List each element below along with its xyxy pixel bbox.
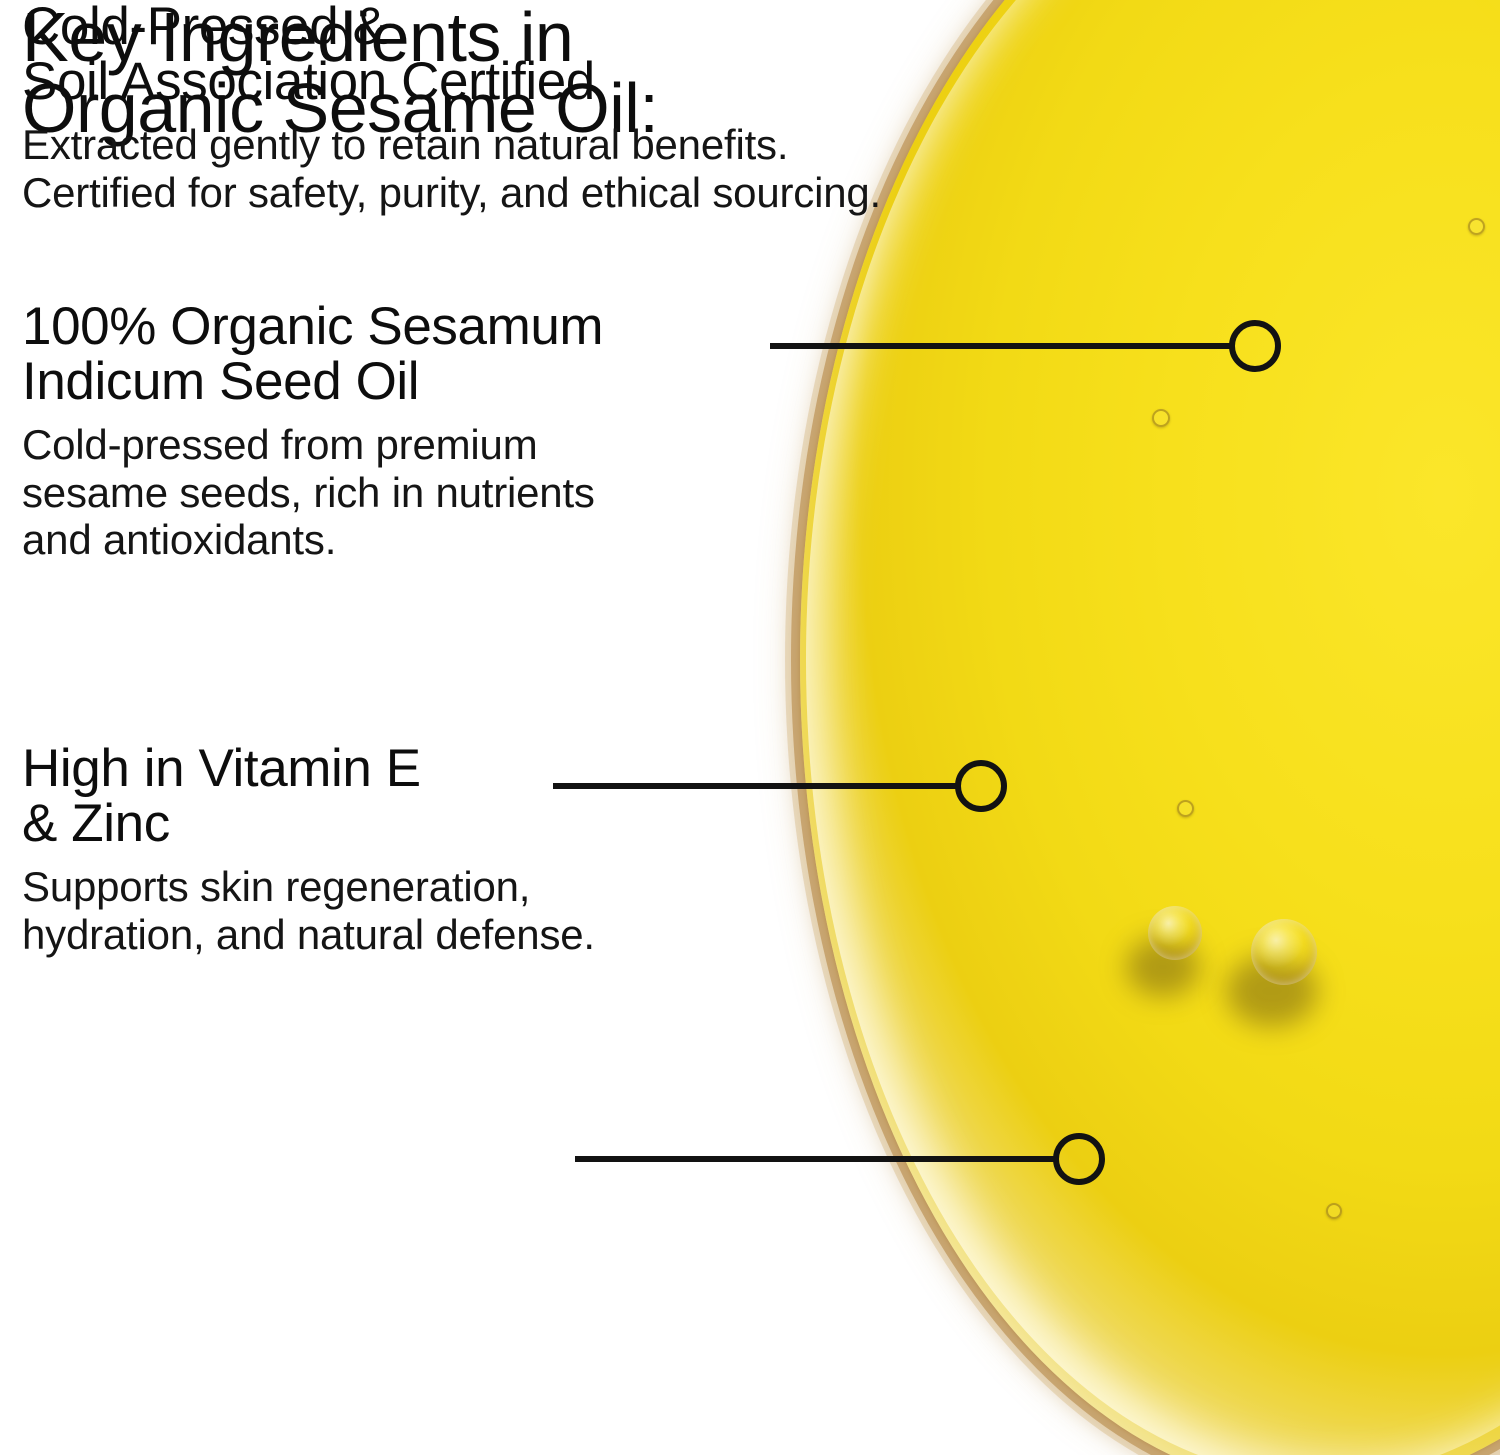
- callout-line-1: [770, 343, 1235, 349]
- ingredient-1-description: Cold-pressed from premium sesame seeds, …: [22, 421, 812, 563]
- ingredient-2-description: Supports skin regeneration, hydration, a…: [22, 863, 812, 958]
- ingredient-3-inner: Cold-Pressed & Soil Association Certifie…: [22, 0, 1142, 216]
- ingredient-3-description: Extracted gently to retain natural benef…: [22, 121, 1152, 216]
- callout-marker-1: [1229, 320, 1281, 372]
- callout-line-3: [575, 1156, 1059, 1162]
- ingredient-block-2: High in Vitamin E & Zinc Supports skin r…: [22, 742, 812, 958]
- ingredient-2-heading: High in Vitamin E & Zinc: [22, 742, 812, 851]
- ingredient-block-1: 100% Organic Sesamum Indicum Seed Oil Co…: [22, 300, 812, 564]
- callout-overlay: [0, 0, 1500, 1455]
- callout-marker-3: [1053, 1133, 1105, 1185]
- infographic-canvas: Key Ingredients in Organic Sesame Oil: 1…: [0, 0, 1500, 1455]
- ingredient-3-heading: Cold-Pressed & Soil Association Certifie…: [22, 0, 1142, 109]
- ingredient-1-heading: 100% Organic Sesamum Indicum Seed Oil: [22, 300, 812, 409]
- callout-marker-2: [955, 760, 1007, 812]
